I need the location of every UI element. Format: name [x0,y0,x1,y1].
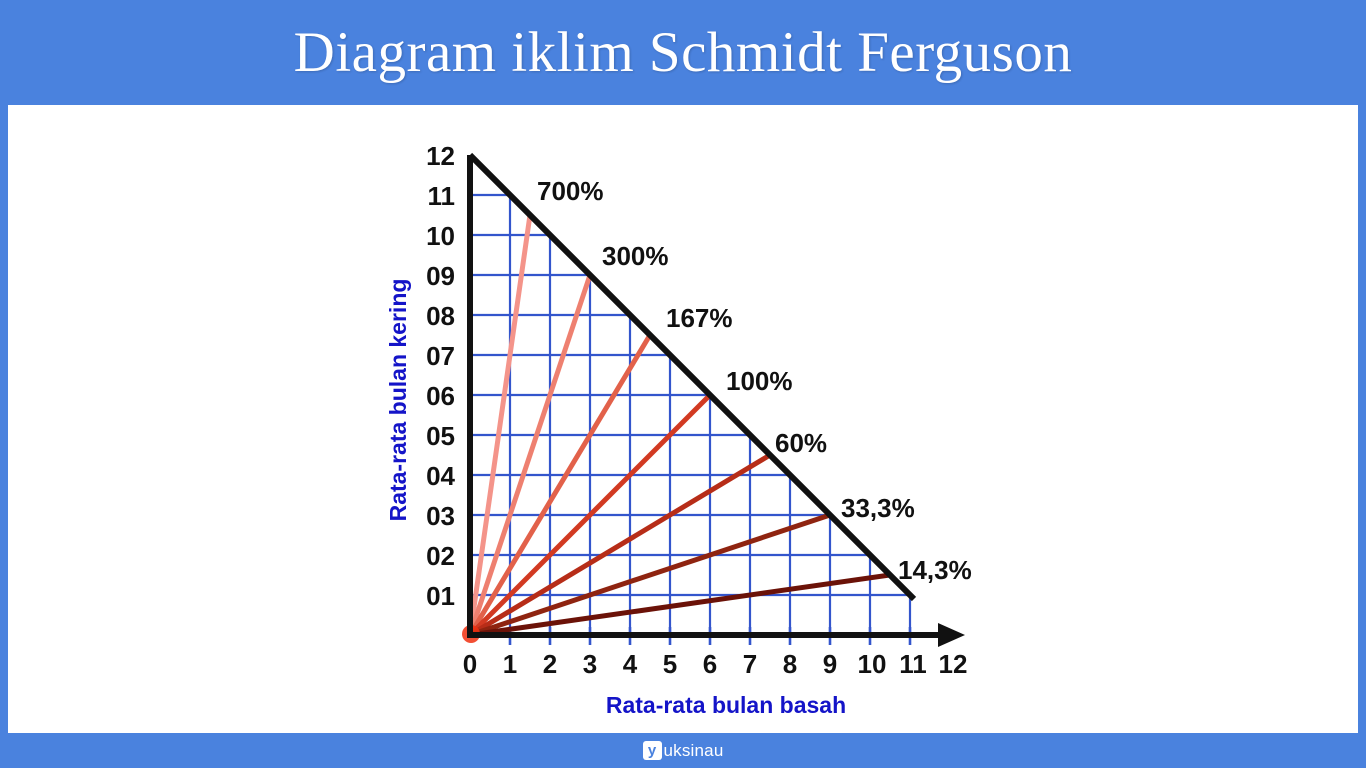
x-tick-label: 4 [623,649,638,679]
x-tick-label: 6 [703,649,717,679]
y-tick-label: 04 [426,461,455,491]
x-tick-label: 7 [743,649,757,679]
y-axis-tick-labels: 12 11 10 09 08 07 06 05 04 03 02 01 [426,141,455,611]
x-tick-label: 3 [583,649,597,679]
annotation-700: 700% [537,176,604,206]
slide: Diagram iklim Schmidt Ferguson [0,0,1366,768]
watermark-label: uksinau [664,741,724,761]
y-tick-label: 06 [426,381,455,411]
schmidt-ferguson-diagram: 12 11 10 09 08 07 06 05 04 03 02 01 0 1 [8,105,1358,733]
y-tick-label: 12 [426,141,455,171]
x-axis-title: Rata-rata bulan basah [606,692,846,718]
slide-footer: y uksinau [0,733,1366,768]
annotation-167: 167% [666,303,733,333]
ray-333 [470,515,830,635]
axes [467,155,965,647]
ray-143 [470,575,890,635]
page-title: Diagram iklim Schmidt Ferguson [294,20,1073,85]
y-tick-label: 05 [426,421,455,451]
x-tick-label: 1 [503,649,517,679]
content-panel: 12 11 10 09 08 07 06 05 04 03 02 01 0 1 [8,105,1358,733]
watermark-badge-icon: y [643,741,662,760]
watermark: y uksinau [643,739,724,763]
y-tick-label: 09 [426,261,455,291]
y-tick-label: 03 [426,501,455,531]
x-tick-label: 8 [783,649,797,679]
slide-header: Diagram iklim Schmidt Ferguson [0,0,1366,104]
q-ratio-annotations: 700% 300% 167% 100% 60% 33,3% 14,3% [537,176,972,585]
y-tick-label: 10 [426,221,455,251]
x-tick-label: 11 [899,649,927,679]
x-tick-label: 5 [663,649,677,679]
annotation-60: 60% [775,428,827,458]
y-axis-title: Rata-rata bulan kering [385,279,411,522]
y-tick-label: 01 [426,581,455,611]
annotation-143: 14,3% [898,555,972,585]
x-axis-arrowhead [938,623,965,647]
y-tick-label: 11 [428,181,456,211]
x-axis-tick-labels: 0 1 2 3 4 5 6 7 8 9 10 11 12 [463,649,968,679]
annotation-300: 300% [602,241,669,271]
chart-svg: 12 11 10 09 08 07 06 05 04 03 02 01 0 1 [8,105,1358,733]
x-tick-label: 2 [543,649,557,679]
x-tick-label: 9 [823,649,837,679]
annotation-333: 33,3% [841,493,915,523]
y-tick-label: 07 [426,341,455,371]
x-tick-label: 10 [858,649,887,679]
ray-700 [470,215,530,635]
y-tick-label: 08 [426,301,455,331]
hypotenuse [470,155,914,599]
x-tick-label: 12 [939,649,968,679]
annotation-100: 100% [726,366,793,396]
y-tick-label: 02 [426,541,455,571]
x-tick-label: 0 [463,649,477,679]
ray-300 [470,275,590,635]
